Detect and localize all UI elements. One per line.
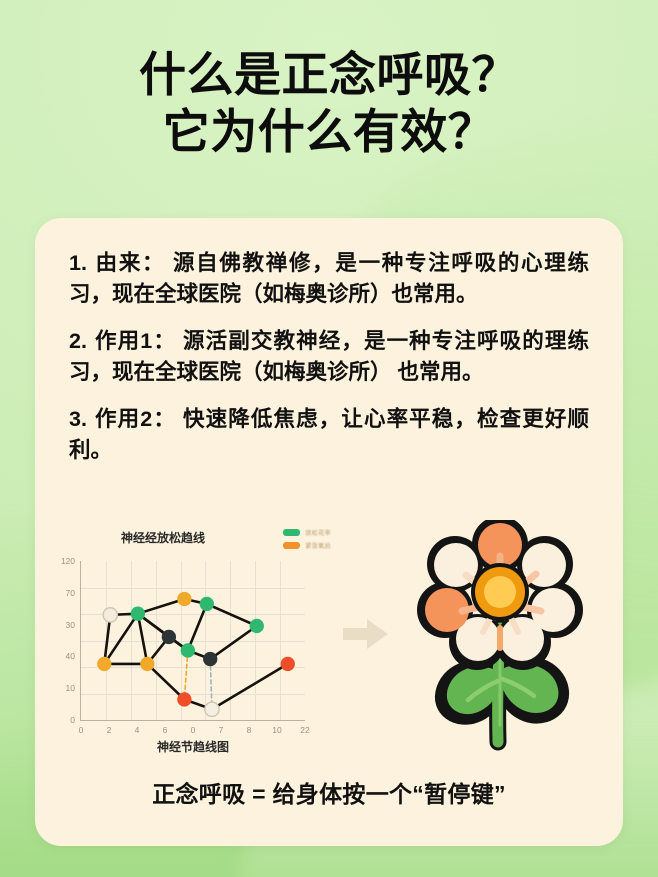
graph-edge — [210, 626, 257, 659]
flower-center — [471, 563, 529, 621]
y-axis-tick: 10 — [66, 683, 75, 693]
x-axis-tick: 7 — [219, 725, 224, 735]
graph-node — [131, 607, 145, 621]
x-axis-tick: 22 — [300, 725, 309, 735]
transition-arrow — [335, 617, 397, 651]
graph-edge — [212, 664, 288, 709]
graph-node — [97, 657, 111, 671]
list-item: 2. 作用1： 源活副交教神经，是一种专注呼吸的理练习，现在全球医院（如梅奥诊所… — [69, 326, 589, 387]
graph-edge — [138, 599, 185, 614]
x-axis-tick: 2 — [107, 725, 112, 735]
graph-node — [162, 630, 176, 644]
flower-illustration — [397, 520, 602, 755]
graph-node — [103, 608, 117, 622]
graph-edge — [207, 604, 257, 626]
graph-edge — [147, 664, 184, 700]
legend-swatch-icon — [283, 542, 300, 549]
chart-x-axis-label: 神经节趋线图 — [81, 738, 305, 755]
point-label: 作用2： — [95, 407, 176, 431]
points-list: 1. 由来： 源自佛教禅修，是一种专注呼吸的心理练习，现在全球医院（如梅奥诊所）… — [69, 248, 589, 465]
right-arrow-icon — [343, 617, 389, 651]
graph-node — [203, 652, 217, 666]
point-label: 作用1： — [95, 329, 176, 353]
y-axis-tick: 0 — [70, 715, 75, 725]
summary-caption: 正念呼吸 = 给身体按一个“暂停键” — [35, 775, 623, 809]
x-axis-tick: 4 — [135, 725, 140, 735]
y-axis-tick: 40 — [66, 651, 75, 661]
graph-edge — [188, 604, 207, 651]
x-axis-tick: 0 — [191, 725, 196, 735]
relaxation-chart: 神经经放松趋线 放松花率 紧张氧后 0104030701200246078102… — [47, 523, 335, 758]
illustration-row: 神经经放松趋线 放松花率 紧张氧后 0104030701200246078102… — [45, 518, 613, 763]
chart-graph — [81, 561, 305, 720]
y-axis-tick: 120 — [61, 556, 75, 566]
graph-node — [205, 702, 219, 716]
x-axis-tick: 0 — [79, 725, 84, 735]
chart-legend: 放松花率 紧张氧后 — [283, 528, 331, 550]
graph-node — [181, 643, 195, 657]
y-axis-tick: 70 — [66, 588, 75, 598]
legend-swatch-icon — [283, 529, 300, 536]
point-number: 1. — [69, 251, 87, 275]
graph-node — [200, 597, 214, 611]
legend-label: 放松花率 — [305, 528, 331, 537]
legend-label: 紧张氧后 — [305, 541, 331, 550]
page-title: 什么是正念呼吸？ 它为什么有效？ — [0, 46, 658, 161]
x-axis-tick: 6 — [163, 725, 168, 735]
list-item: 1. 由来： 源自佛教禅修，是一种专注呼吸的心理练习，现在全球医院（如梅奥诊所）… — [69, 248, 589, 309]
page-title-line-1: 什么是正念呼吸？ — [0, 46, 658, 103]
point-number: 3. — [69, 407, 87, 431]
legend-item: 紧张氧后 — [283, 541, 331, 550]
page-title-line-2: 它为什么有效？ — [0, 103, 658, 160]
graph-edge-dashed — [184, 650, 187, 699]
point-label: 由来： — [96, 251, 166, 275]
chart-plot-area: 01040307012002460781022 神经节趋线图 — [80, 561, 305, 721]
graph-node — [177, 692, 191, 706]
flower-icon — [405, 520, 595, 755]
content-card: 1. 由来： 源自佛教禅修，是一种专注呼吸的心理练习，现在全球医院（如梅奥诊所）… — [35, 218, 623, 846]
point-number: 2. — [69, 329, 87, 353]
x-axis-tick: 8 — [247, 725, 252, 735]
x-axis-tick: 10 — [272, 725, 281, 735]
graph-node — [140, 657, 154, 671]
graph-node — [177, 592, 191, 606]
graph-node — [250, 619, 264, 633]
graph-node — [281, 657, 295, 671]
list-item: 3. 作用2： 快速降低焦虑，让心率平稳，检查更好顺利。 — [69, 404, 589, 465]
y-axis-tick: 30 — [66, 620, 75, 630]
legend-item: 放松花率 — [283, 528, 331, 537]
